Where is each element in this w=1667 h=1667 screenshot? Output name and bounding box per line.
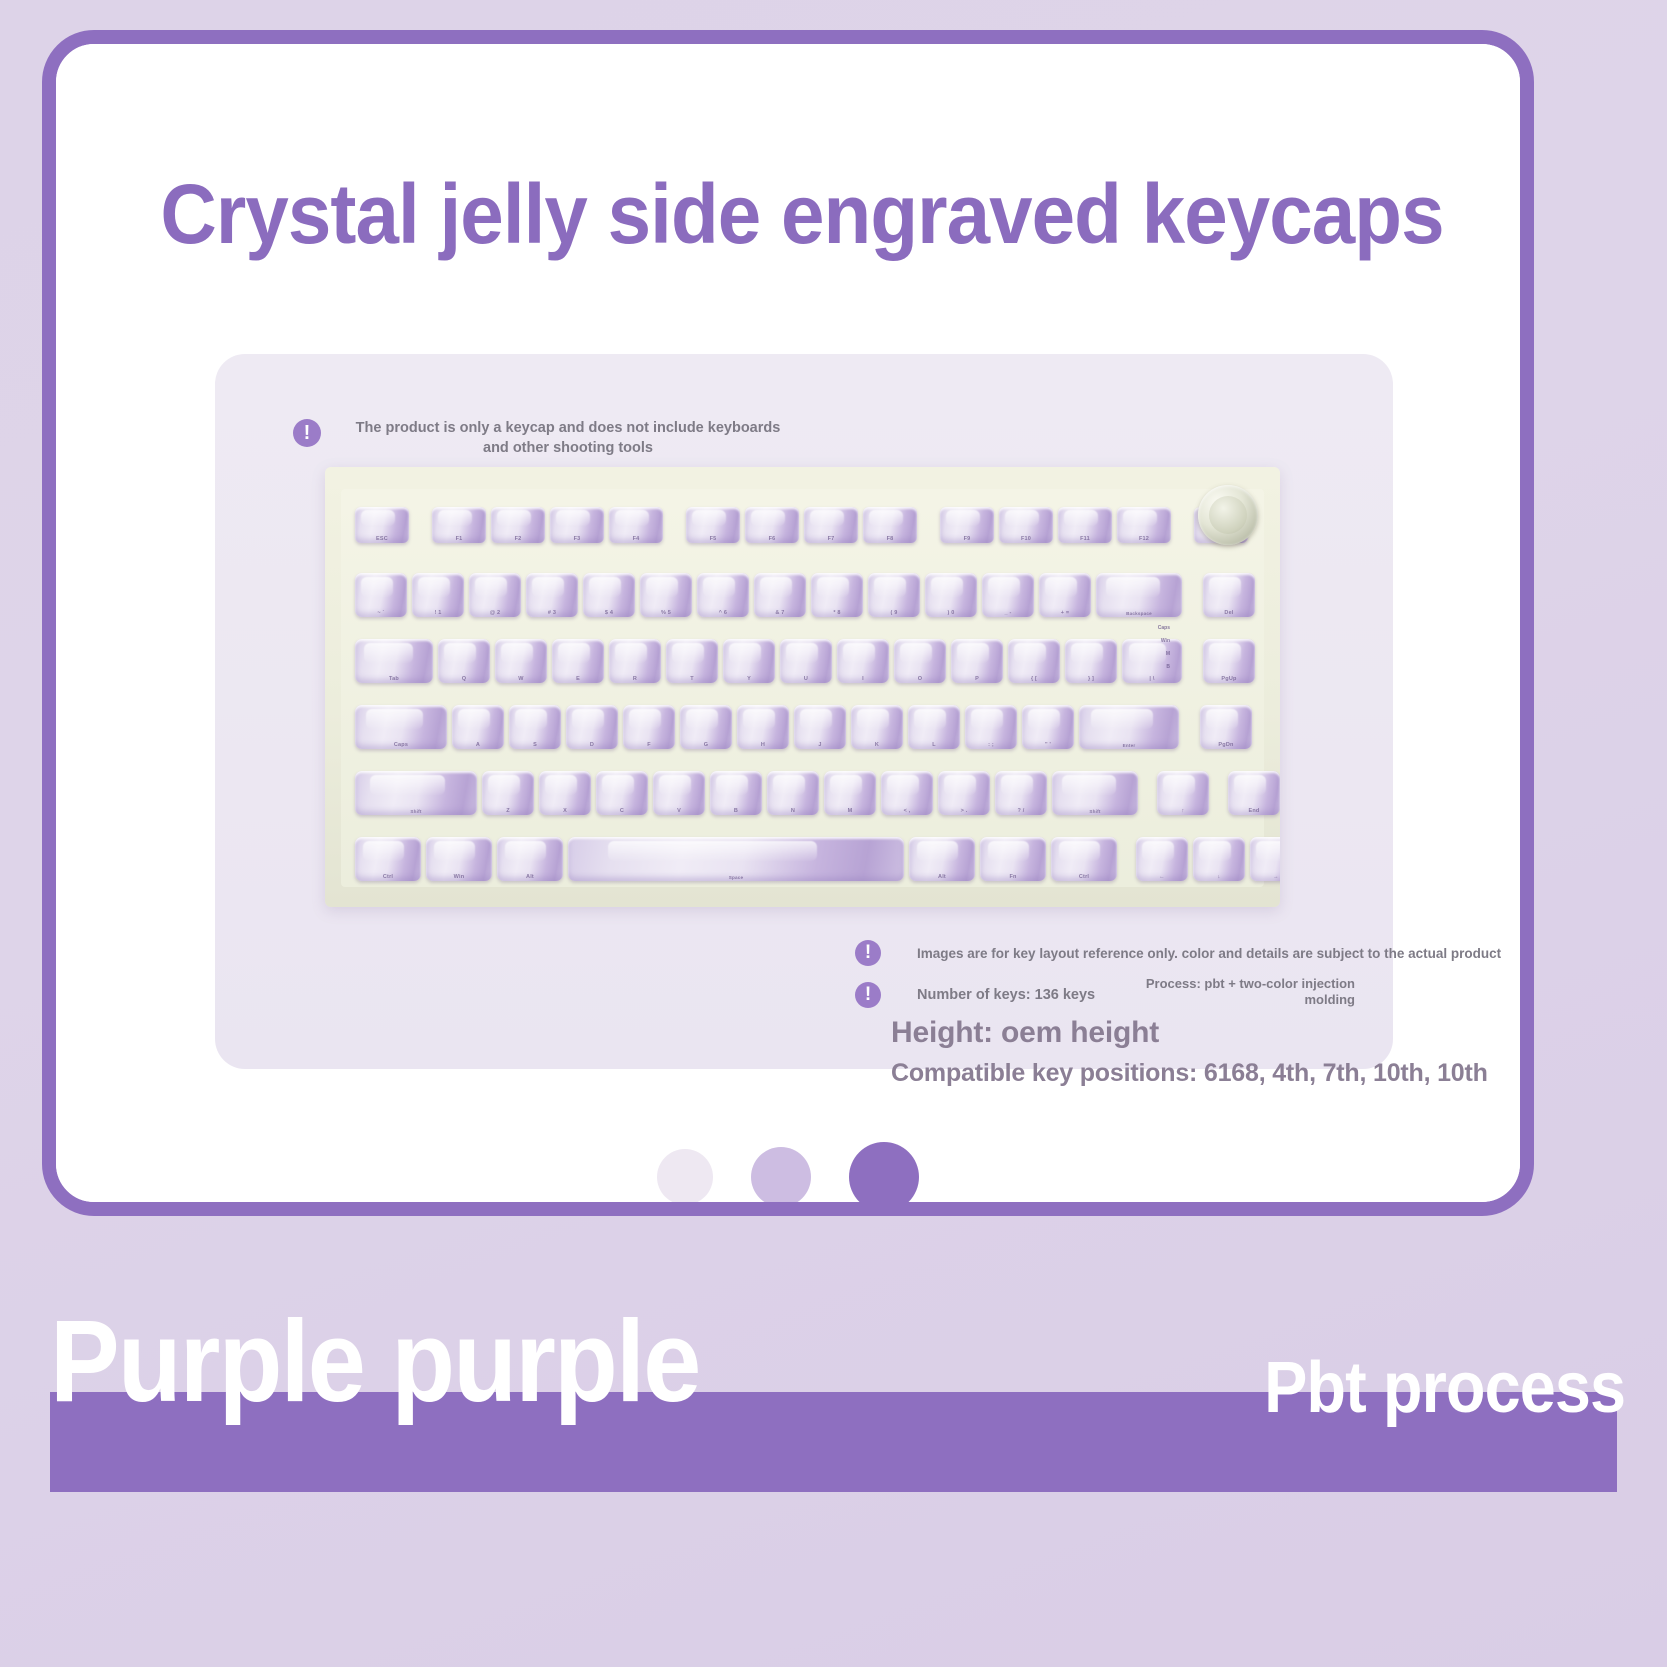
keycap-legend: T bbox=[666, 676, 718, 682]
keycap: B bbox=[710, 771, 762, 815]
keycap: ? / bbox=[995, 771, 1047, 815]
keycap: U bbox=[780, 639, 832, 683]
keycap: Alt bbox=[497, 837, 563, 881]
keycap-legend: PgUp bbox=[1203, 676, 1255, 682]
keycap: F6 bbox=[745, 507, 799, 543]
keycap: O bbox=[894, 639, 946, 683]
keycap: Fn bbox=[980, 837, 1046, 881]
keycap: Alt bbox=[909, 837, 975, 881]
keycap-legend: " ' bbox=[1022, 742, 1074, 748]
keycap-legend: Shift bbox=[1052, 809, 1138, 814]
keycap-legend: A bbox=[452, 742, 504, 748]
keyboard-row-qwerty-row: TabQWERTYUIOP{ [} ]| \PgUp bbox=[355, 639, 1255, 683]
keycap-legend: Q bbox=[438, 676, 490, 682]
keycap: Shift bbox=[355, 771, 477, 815]
keycap-legend: ESC bbox=[355, 536, 409, 542]
keycap-legend: ↑ bbox=[1157, 808, 1209, 814]
keycap: N bbox=[767, 771, 819, 815]
keycap-legend: : ; bbox=[965, 742, 1017, 748]
keyboard-row-function-row: ESCF1F2F3F4F5F6F7F8F9F10F11F12PRTSC bbox=[355, 507, 1248, 543]
keycap-legend: F2 bbox=[491, 536, 545, 542]
keycap-legend: ? / bbox=[995, 808, 1047, 814]
keycap-legend: S bbox=[509, 742, 561, 748]
banner-title: Purple purple bbox=[50, 1303, 699, 1419]
keycap-legend: Tab bbox=[355, 676, 433, 682]
keycap: ~ ` bbox=[355, 573, 407, 617]
keycap: L bbox=[908, 705, 960, 749]
key-count-notice: ! Number of keys: 136 keys Process: pbt … bbox=[855, 982, 1385, 1008]
indicator-label: B bbox=[1136, 664, 1170, 670]
keycap-legend: Z bbox=[482, 808, 534, 814]
disclaimer-text: The product is only a keycap and does no… bbox=[353, 419, 783, 458]
keycap-legend: F10 bbox=[999, 536, 1053, 542]
keycap-legend: ← bbox=[1136, 874, 1188, 880]
keycap: V bbox=[653, 771, 705, 815]
keycap: > . bbox=[938, 771, 990, 815]
keycap: F3 bbox=[550, 507, 604, 543]
keycap-legend: Fn bbox=[980, 874, 1046, 880]
keycap: F10 bbox=[999, 507, 1053, 543]
keyboard-row-shift-row: ShiftZXCVBNM< ,> .? /Shift↑End bbox=[355, 771, 1280, 815]
keycap-legend: @ 2 bbox=[469, 610, 521, 616]
keycap: < , bbox=[881, 771, 933, 815]
keycap: F9 bbox=[940, 507, 994, 543]
keycap-legend: F12 bbox=[1117, 536, 1171, 542]
keycap-legend: { [ bbox=[1008, 676, 1060, 682]
reference-notice: ! Images are for key layout reference on… bbox=[855, 940, 1385, 966]
keycap-legend: Backspace bbox=[1096, 611, 1182, 616]
indicator-leds: CapsWinMB bbox=[1136, 625, 1170, 677]
keycap: } ] bbox=[1065, 639, 1117, 683]
keycap: Z bbox=[482, 771, 534, 815]
keycap: ↑ bbox=[1157, 771, 1209, 815]
disclaimer-notice: ! The product is only a keycap and does … bbox=[293, 419, 813, 458]
page-title: Crystal jelly side engraved keycaps bbox=[155, 172, 1450, 256]
keycap: End bbox=[1228, 771, 1280, 815]
keycap-legend: N bbox=[767, 808, 819, 814]
keycap: ! 1 bbox=[412, 573, 464, 617]
keycap-legend: $ 4 bbox=[583, 610, 635, 616]
keycap: " ' bbox=[1022, 705, 1074, 749]
indicator-label: M bbox=[1136, 651, 1170, 657]
keycap: Q bbox=[438, 639, 490, 683]
keycap-legend: ~ ` bbox=[355, 610, 407, 616]
keycap-legend: F8 bbox=[863, 536, 917, 542]
product-card-frame: Crystal jelly side engraved keycaps ! Th… bbox=[42, 30, 1534, 1216]
keycap-legend: } ] bbox=[1065, 676, 1117, 682]
keycap-legend: + = bbox=[1039, 610, 1091, 616]
keycap: F11 bbox=[1058, 507, 1112, 543]
keycap: ^ 6 bbox=[697, 573, 749, 617]
keycap: # 3 bbox=[526, 573, 578, 617]
keycap-legend: G bbox=[680, 742, 732, 748]
keycap-legend: M bbox=[824, 808, 876, 814]
keycap-legend: X bbox=[539, 808, 591, 814]
keycap: M bbox=[824, 771, 876, 815]
keycap: Backspace bbox=[1096, 573, 1182, 617]
exclamation-icon: ! bbox=[855, 940, 881, 966]
keyboard-row-number-row: ~ `! 1@ 2# 3$ 4% 5^ 6& 7* 8( 9) 0_ -+ =B… bbox=[355, 573, 1255, 617]
keycap: { [ bbox=[1008, 639, 1060, 683]
keycap-legend: I bbox=[837, 676, 889, 682]
keycap-legend: _ - bbox=[982, 610, 1034, 616]
keycap: H bbox=[737, 705, 789, 749]
keycap: T bbox=[666, 639, 718, 683]
keycap: Ctrl bbox=[1051, 837, 1117, 881]
keycap: F1 bbox=[432, 507, 486, 543]
keycap: X bbox=[539, 771, 591, 815]
keycap-legend: → bbox=[1250, 874, 1280, 880]
keycap-legend: ^ 6 bbox=[697, 610, 749, 616]
indicator-label: Caps bbox=[1136, 625, 1170, 631]
keycap-legend: F4 bbox=[609, 536, 663, 542]
keycap: Space bbox=[568, 837, 904, 881]
keycap-legend: Enter bbox=[1079, 743, 1179, 748]
keycap-legend: F11 bbox=[1058, 536, 1112, 542]
keycap: K bbox=[851, 705, 903, 749]
exclamation-icon: ! bbox=[293, 419, 321, 447]
keycap: Caps bbox=[355, 705, 447, 749]
keycap: Shift bbox=[1052, 771, 1138, 815]
keycap: C bbox=[596, 771, 648, 815]
keycap: F8 bbox=[863, 507, 917, 543]
pagination-dot-page-2[interactable] bbox=[751, 1147, 811, 1202]
keycap-legend: ( 9 bbox=[868, 610, 920, 616]
pagination-dot-page-1[interactable] bbox=[657, 1149, 713, 1202]
keycap-legend: ! 1 bbox=[412, 610, 464, 616]
keycap: + = bbox=[1039, 573, 1091, 617]
keycap: Del bbox=[1203, 573, 1255, 617]
spec-key-count: Number of keys: 136 keys bbox=[917, 987, 1095, 1003]
keycap-legend: F7 bbox=[804, 536, 858, 542]
keycap: F7 bbox=[804, 507, 858, 543]
exclamation-icon: ! bbox=[855, 982, 881, 1008]
keycap: F5 bbox=[686, 507, 740, 543]
keycap: I bbox=[837, 639, 889, 683]
keycap: ESC bbox=[355, 507, 409, 543]
keycap: ) 0 bbox=[925, 573, 977, 617]
spec-process: Process: pbt + two-color injection moldi… bbox=[1135, 976, 1355, 1009]
keycap-legend: Win bbox=[426, 874, 492, 880]
spec-compatible-positions: Compatible key positions: 6168, 4th, 7th… bbox=[891, 1059, 1488, 1088]
keycap: @ 2 bbox=[469, 573, 521, 617]
keyboard-row-bottom-row: CtrlWinAltSpaceAltFnCtrl←↓→ bbox=[355, 837, 1280, 881]
keycap: PgUp bbox=[1203, 639, 1255, 683]
keycap-legend: F6 bbox=[745, 536, 799, 542]
indicator-label: Win bbox=[1136, 638, 1170, 644]
keycap-legend: Alt bbox=[909, 874, 975, 880]
keycap-legend: E bbox=[552, 676, 604, 682]
keycap: R bbox=[609, 639, 661, 683]
keycap-legend: Shift bbox=[355, 809, 477, 814]
keycap-legend: Y bbox=[723, 676, 775, 682]
keycap-legend: PgDn bbox=[1200, 742, 1252, 748]
keycap-legend: & 7 bbox=[754, 610, 806, 616]
keycap-legend: # 3 bbox=[526, 610, 578, 616]
keycap: _ - bbox=[982, 573, 1034, 617]
keycap-legend: H bbox=[737, 742, 789, 748]
keycap: → bbox=[1250, 837, 1280, 881]
keycap-legend: Del bbox=[1203, 610, 1255, 616]
keycap-legend: K bbox=[851, 742, 903, 748]
keycap: : ; bbox=[965, 705, 1017, 749]
keycap-legend: W bbox=[495, 676, 547, 682]
keycap-legend: * 8 bbox=[811, 610, 863, 616]
reference-text: Images are for key layout reference only… bbox=[917, 946, 1501, 961]
keycap-legend: F3 bbox=[550, 536, 604, 542]
pagination-dot-page-3[interactable] bbox=[849, 1142, 919, 1202]
keycap: % 5 bbox=[640, 573, 692, 617]
keycap: J bbox=[794, 705, 846, 749]
keycap: Tab bbox=[355, 639, 433, 683]
keycap-legend: < , bbox=[881, 808, 933, 814]
keycap-legend: Caps bbox=[355, 742, 447, 748]
keycap-legend: ) 0 bbox=[925, 610, 977, 616]
keycap-legend: F5 bbox=[686, 536, 740, 542]
keycap-legend: End bbox=[1228, 808, 1280, 814]
keyboard-row-home-row: CapsASDFGHJKL: ;" 'EnterPgDn bbox=[355, 705, 1252, 749]
keycap-legend: Ctrl bbox=[355, 874, 421, 880]
keycap-legend: R bbox=[609, 676, 661, 682]
product-panel: ! The product is only a keycap and does … bbox=[215, 354, 1393, 1069]
keycap-legend: Ctrl bbox=[1051, 874, 1117, 880]
keycap: F12 bbox=[1117, 507, 1171, 543]
keycap: P bbox=[951, 639, 1003, 683]
keycap: A bbox=[452, 705, 504, 749]
keycap: W bbox=[495, 639, 547, 683]
keycap: ( 9 bbox=[868, 573, 920, 617]
keycap-legend: Alt bbox=[497, 874, 563, 880]
keycap-legend: U bbox=[780, 676, 832, 682]
banner-subtitle: Pbt process bbox=[1264, 1352, 1625, 1424]
keycap: E bbox=[552, 639, 604, 683]
keyboard-product-image: ESCF1F2F3F4F5F6F7F8F9F10F11F12PRTSC~ `! … bbox=[325, 467, 1280, 907]
keycap-legend: F1 bbox=[432, 536, 486, 542]
keycap: Ctrl bbox=[355, 837, 421, 881]
keycap-legend: Space bbox=[568, 875, 904, 880]
keycap-legend: O bbox=[894, 676, 946, 682]
keycap: ↓ bbox=[1193, 837, 1245, 881]
keycap-legend: L bbox=[908, 742, 960, 748]
product-advertisement-page: Crystal jelly side engraved keycaps ! Th… bbox=[0, 0, 1667, 1667]
pagination-dots[interactable] bbox=[56, 1142, 1520, 1202]
keycap: F2 bbox=[491, 507, 545, 543]
keycap: ← bbox=[1136, 837, 1188, 881]
keycap: PgDn bbox=[1200, 705, 1252, 749]
keycap: Win bbox=[426, 837, 492, 881]
spec-height: Height: oem height bbox=[891, 1016, 1159, 1050]
keycap-legend: P bbox=[951, 676, 1003, 682]
keycap: F4 bbox=[609, 507, 663, 543]
keycap: F bbox=[623, 705, 675, 749]
keycap-legend: J bbox=[794, 742, 846, 748]
keycap: D bbox=[566, 705, 618, 749]
keyboard-plate: ESCF1F2F3F4F5F6F7F8F9F10F11F12PRTSC~ `! … bbox=[341, 489, 1264, 887]
keycap: & 7 bbox=[754, 573, 806, 617]
keycap: $ 4 bbox=[583, 573, 635, 617]
keycap-legend: % 5 bbox=[640, 610, 692, 616]
keycap: G bbox=[680, 705, 732, 749]
keycap: S bbox=[509, 705, 561, 749]
keycap-legend: F bbox=[623, 742, 675, 748]
keycap-legend: C bbox=[596, 808, 648, 814]
product-card-inner: Crystal jelly side engraved keycaps ! Th… bbox=[56, 44, 1520, 1202]
keycap-legend: F9 bbox=[940, 536, 994, 542]
rotary-knob-icon bbox=[1198, 485, 1258, 545]
keycap: Y bbox=[723, 639, 775, 683]
keycap-legend: V bbox=[653, 808, 705, 814]
keycap-legend: D bbox=[566, 742, 618, 748]
keycap: Enter bbox=[1079, 705, 1179, 749]
keycap-legend: > . bbox=[938, 808, 990, 814]
keycap: * 8 bbox=[811, 573, 863, 617]
keycap-legend: B bbox=[710, 808, 762, 814]
keycap-legend: ↓ bbox=[1193, 874, 1245, 880]
